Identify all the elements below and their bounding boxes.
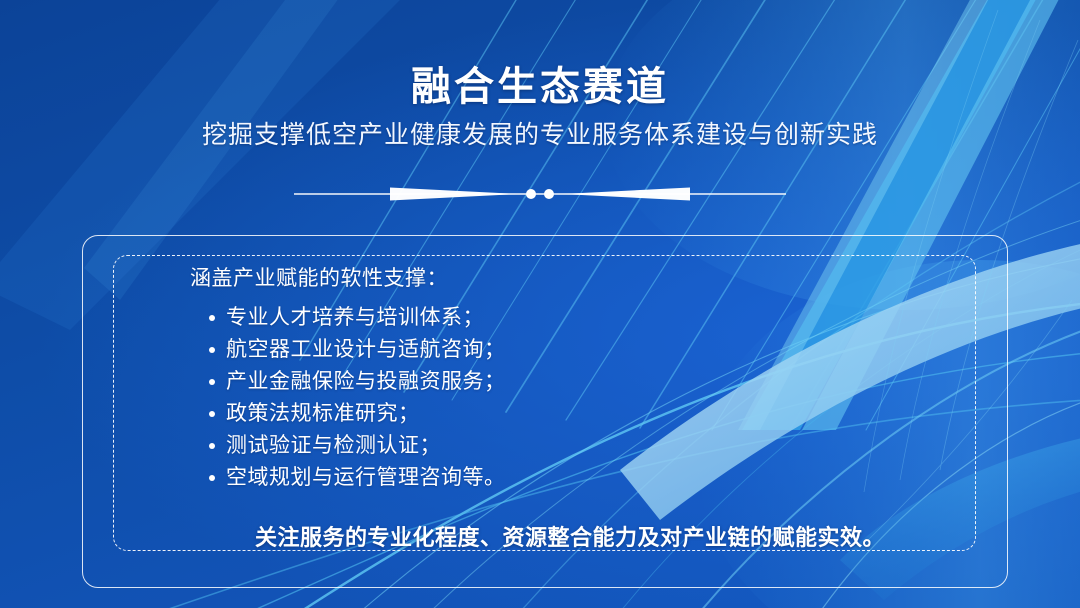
list-item-label: 产业金融保险与投融资服务； [226, 369, 506, 393]
bullet-dot-icon [209, 475, 215, 481]
page-subtitle: 挖掘支撑低空产业健康发展的专业服务体系建设与创新实践 [0, 120, 1080, 151]
divider-dot-right [544, 189, 554, 199]
list-item: 产业金融保险与投融资服务； [190, 365, 950, 397]
list-item: 测试验证与检测认证； [190, 429, 950, 461]
conclusion-statement: 关注服务的专业化程度、资源整合能力及对产业链的赋能实效。 [190, 520, 950, 552]
list-item: 专业人才培养与培训体系； [190, 301, 950, 333]
list-item: 政策法规标准研究； [190, 397, 950, 429]
divider-wedge-left [390, 188, 518, 201]
list-item-label: 政策法规标准研究； [226, 401, 420, 425]
divider-wedge-right [562, 188, 690, 201]
content-area: 涵盖产业赋能的软性支撑： 专业人才培养与培训体系； 航空器工业设计与适航咨询； … [190, 268, 950, 493]
page-title: 融合生态赛道 [0, 64, 1080, 110]
ornamental-divider [290, 183, 790, 205]
list-item: 空域规划与运行管理咨询等。 [190, 461, 950, 493]
list-item-label: 航空器工业设计与适航咨询； [226, 337, 506, 361]
list-item: 航空器工业设计与适航咨询； [190, 333, 950, 365]
bullet-dot-icon [209, 443, 215, 449]
slide-canvas: 融合生态赛道 挖掘支撑低空产业健康发展的专业服务体系建设与创新实践 涵盖产业赋能… [0, 0, 1080, 608]
bullet-dot-icon [209, 315, 215, 321]
divider-dot-left [526, 189, 536, 199]
bullet-dot-icon [209, 411, 215, 417]
bullet-list: 专业人才培养与培训体系； 航空器工业设计与适航咨询； 产业金融保险与投融资服务；… [190, 301, 950, 493]
bullet-dot-icon [209, 379, 215, 385]
list-item-label: 测试验证与检测认证； [226, 433, 441, 457]
list-item-label: 专业人才培养与培训体系； [226, 305, 484, 329]
intro-line: 涵盖产业赋能的软性支撑： [190, 268, 950, 289]
title-block: 融合生态赛道 挖掘支撑低空产业健康发展的专业服务体系建设与创新实践 [0, 64, 1080, 151]
bullet-dot-icon [209, 347, 215, 353]
list-item-label: 空域规划与运行管理咨询等。 [226, 465, 506, 489]
